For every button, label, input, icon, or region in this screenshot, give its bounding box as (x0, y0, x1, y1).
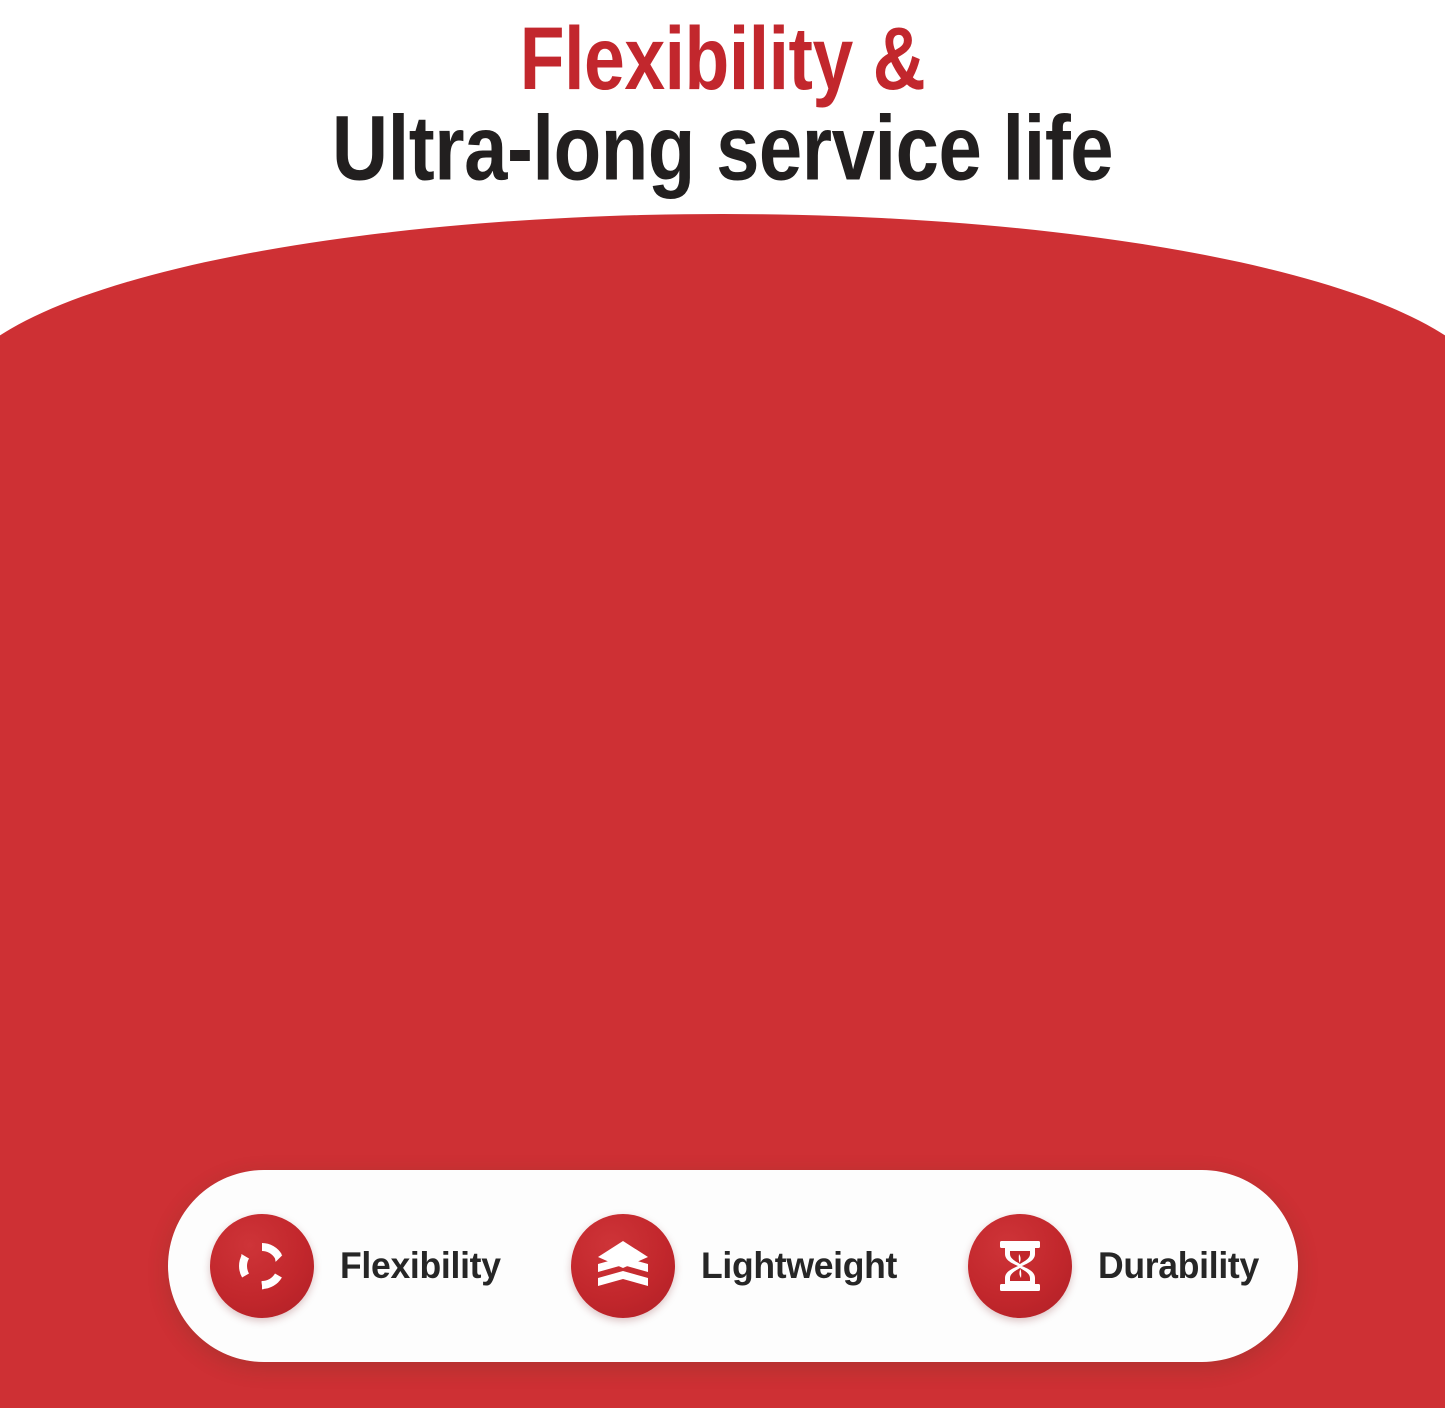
flexibility-badge (210, 1214, 314, 1318)
feature-item-durability[interactable]: Durability (968, 1214, 1266, 1318)
headline-block: Flexibility & Ultra-long service life (0, 0, 1445, 196)
rotate-arrows-icon (230, 1234, 294, 1298)
durability-badge (968, 1214, 1072, 1318)
feature-label: Flexibility (340, 1245, 501, 1287)
lightweight-badge (571, 1214, 675, 1318)
feature-item-lightweight[interactable]: Lightweight (571, 1214, 905, 1318)
headline-line-2: Ultra-long service life (36, 90, 1409, 195)
feature-item-flexibility[interactable]: Flexibility (210, 1214, 507, 1318)
hourglass-icon (988, 1234, 1052, 1298)
feature-card: Flexibility Lightweight (168, 1170, 1298, 1362)
headline-line-1: Flexibility & (43, 0, 1401, 103)
layers-stack-icon (591, 1234, 655, 1298)
feature-label: Durability (1098, 1245, 1259, 1287)
feature-label: Lightweight (701, 1245, 897, 1287)
